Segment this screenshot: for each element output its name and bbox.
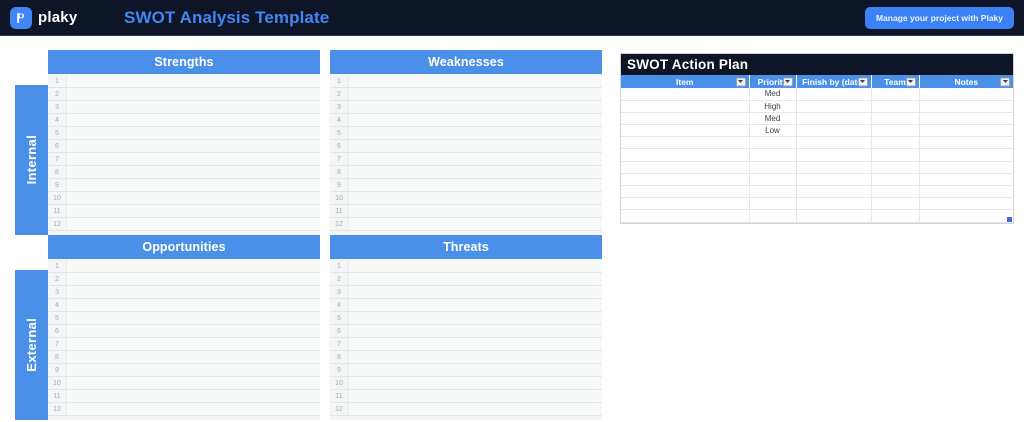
brand: plaky xyxy=(10,7,77,29)
row-input-cell[interactable] xyxy=(66,403,320,416)
cell-notes[interactable] xyxy=(919,161,1013,173)
row-input-cell[interactable] xyxy=(66,192,320,205)
row-number: 1 xyxy=(48,75,66,88)
row-number: 5 xyxy=(48,127,66,140)
row-number: 7 xyxy=(48,338,66,351)
row-input-cell[interactable] xyxy=(66,312,320,325)
row-input-cell[interactable] xyxy=(348,114,602,127)
cell-item[interactable] xyxy=(621,210,749,222)
cell-finish-by[interactable] xyxy=(796,137,871,149)
row-number: 9 xyxy=(48,179,66,192)
row-number: 5 xyxy=(330,127,348,140)
row-number: 4 xyxy=(330,299,348,312)
table-row[interactable] xyxy=(621,210,1013,222)
list-item[interactable]: 5 xyxy=(330,127,602,140)
cell-item[interactable] xyxy=(621,112,749,124)
panel-title-threats: Threats xyxy=(330,235,602,259)
side-band-internal: Internal xyxy=(15,85,48,235)
table-row[interactable] xyxy=(621,161,1013,173)
row-input-cell[interactable] xyxy=(66,166,320,179)
list-item[interactable]: 3 xyxy=(48,286,320,299)
row-input-cell[interactable] xyxy=(66,140,320,153)
cell-item[interactable] xyxy=(621,100,749,112)
cell-finish-by[interactable] xyxy=(796,173,871,185)
list-item[interactable]: 1 xyxy=(330,75,602,88)
row-number: 4 xyxy=(48,114,66,127)
column-header-label: Item xyxy=(676,77,693,87)
table-row[interactable] xyxy=(621,149,1013,161)
list-item[interactable]: 5 xyxy=(48,312,320,325)
row-number: 10 xyxy=(48,192,66,205)
row-input-cell[interactable] xyxy=(66,101,320,114)
list-item[interactable]: 2 xyxy=(330,273,602,286)
row-input-cell[interactable] xyxy=(348,101,602,114)
cell-finish-by[interactable] xyxy=(796,100,871,112)
list-item[interactable]: 3 xyxy=(48,101,320,114)
cell-notes[interactable] xyxy=(919,210,1013,222)
list-item[interactable]: 5 xyxy=(48,127,320,140)
row-number: 7 xyxy=(330,338,348,351)
panel-threats: Threats 123456789101112 xyxy=(330,235,602,420)
row-number: 5 xyxy=(330,312,348,325)
panel-weaknesses: Weaknesses 123456789101112 xyxy=(330,50,602,235)
list-item[interactable]: 2 xyxy=(330,88,602,101)
cell-notes[interactable] xyxy=(919,100,1013,112)
row-input-cell[interactable] xyxy=(348,325,602,338)
cell-priority[interactable] xyxy=(749,161,796,173)
row-number: 11 xyxy=(330,205,348,218)
list-item[interactable]: 4 xyxy=(48,299,320,312)
row-number: 6 xyxy=(48,140,66,153)
row-number: 8 xyxy=(330,166,348,179)
list-item[interactable]: 10 xyxy=(330,377,602,390)
action-plan-grid: ItemPriorityFinish by (date)TeamNotes Me… xyxy=(621,75,1013,223)
row-input-cell[interactable] xyxy=(66,205,320,218)
cell-finish-by[interactable] xyxy=(796,112,871,124)
cell-finish-by[interactable] xyxy=(796,88,871,100)
cell-team[interactable] xyxy=(871,186,919,198)
cell-item[interactable] xyxy=(621,186,749,198)
panel-strengths: Strengths 123456789101112 xyxy=(48,50,320,235)
list-item[interactable]: 1 xyxy=(48,75,320,88)
row-input-cell[interactable] xyxy=(66,364,320,377)
brand-name: plaky xyxy=(38,9,77,26)
cell-finish-by[interactable] xyxy=(796,210,871,222)
row-number: 2 xyxy=(48,273,66,286)
row-number: 4 xyxy=(330,114,348,127)
list-item[interactable]: 10 xyxy=(48,192,320,205)
swot-block-internal: Internal Strengths 123456789101112 xyxy=(15,50,320,235)
cell-team[interactable] xyxy=(871,173,919,185)
list-item[interactable]: 11 xyxy=(330,390,602,403)
row-number: 11 xyxy=(48,205,66,218)
row-number: 9 xyxy=(48,364,66,377)
column-header-label: Team xyxy=(884,77,906,87)
cell-notes[interactable] xyxy=(919,112,1013,124)
row-number: 8 xyxy=(330,351,348,364)
column-header-priority[interactable]: Priority xyxy=(749,75,796,88)
row-input-cell[interactable] xyxy=(348,351,602,364)
list-item[interactable]: 6 xyxy=(48,140,320,153)
filter-dropdown-icon[interactable] xyxy=(783,77,793,86)
row-input-cell[interactable] xyxy=(348,75,602,88)
filter-dropdown-icon[interactable] xyxy=(858,77,868,86)
cell-team[interactable] xyxy=(871,161,919,173)
row-input-cell[interactable] xyxy=(348,88,602,101)
row-number: 6 xyxy=(330,140,348,153)
table-row[interactable]: Low xyxy=(621,125,1013,137)
panel-opportunities: Opportunities 123456789101112 xyxy=(48,235,320,420)
cell-team[interactable] xyxy=(871,198,919,210)
row-number: 12 xyxy=(48,218,66,231)
swot-action-plan-table: SWOT Action Plan ItemPriorityFinish by (… xyxy=(620,53,1014,224)
list-item[interactable]: 2 xyxy=(48,273,320,286)
side-band-label: Internal xyxy=(24,135,39,184)
row-number: 5 xyxy=(48,312,66,325)
list-item[interactable]: 8 xyxy=(48,166,320,179)
row-number: 3 xyxy=(330,101,348,114)
row-input-cell[interactable] xyxy=(66,127,320,140)
row-input-cell[interactable] xyxy=(348,179,602,192)
row-input-cell[interactable] xyxy=(66,286,320,299)
column-header-finish-by-date[interactable]: Finish by (date) xyxy=(796,75,871,88)
rows-weaknesses: 123456789101112 xyxy=(330,74,602,231)
cell-finish-by[interactable] xyxy=(796,186,871,198)
row-number: 9 xyxy=(330,179,348,192)
row-input-cell[interactable] xyxy=(348,364,602,377)
cell-priority[interactable] xyxy=(749,186,796,198)
cell-team[interactable] xyxy=(871,88,919,100)
cell-notes[interactable] xyxy=(919,173,1013,185)
row-number: 3 xyxy=(48,101,66,114)
swot-block-external: External Opportunities 123456789101112 xyxy=(15,235,320,420)
cell-finish-by[interactable] xyxy=(796,198,871,210)
row-input-cell[interactable] xyxy=(66,273,320,286)
list-item[interactable]: 12 xyxy=(48,218,320,231)
row-input-cell[interactable] xyxy=(348,127,602,140)
list-item[interactable]: 8 xyxy=(48,351,320,364)
row-number: 11 xyxy=(48,390,66,403)
list-item[interactable]: 8 xyxy=(330,351,602,364)
table-row[interactable] xyxy=(621,173,1013,185)
cell-finish-by[interactable] xyxy=(796,161,871,173)
page-title: SWOT Analysis Template xyxy=(124,8,329,28)
row-input-cell[interactable] xyxy=(66,153,320,166)
row-input-cell[interactable] xyxy=(66,88,320,101)
rows-strengths: 123456789101112 xyxy=(48,74,320,231)
cell-priority[interactable] xyxy=(749,210,796,222)
cell-priority[interactable] xyxy=(749,173,796,185)
row-number: 12 xyxy=(48,403,66,416)
table-row[interactable]: Med xyxy=(621,112,1013,124)
cell-notes[interactable] xyxy=(919,149,1013,161)
row-input-cell[interactable] xyxy=(66,377,320,390)
list-item[interactable]: 1 xyxy=(48,260,320,273)
row-input-cell[interactable] xyxy=(348,192,602,205)
cell-priority[interactable]: Med xyxy=(749,112,796,124)
list-item[interactable]: 4 xyxy=(48,114,320,127)
cell-team[interactable] xyxy=(871,100,919,112)
panel-title-strengths: Strengths xyxy=(48,50,320,74)
cell-team[interactable] xyxy=(871,125,919,137)
list-item[interactable]: 8 xyxy=(330,166,602,179)
list-item[interactable]: 3 xyxy=(330,101,602,114)
column-header-label: Notes xyxy=(954,77,978,87)
cell-notes[interactable] xyxy=(919,88,1013,100)
list-item[interactable]: 3 xyxy=(330,286,602,299)
row-number: 12 xyxy=(330,403,348,416)
cell-team[interactable] xyxy=(871,210,919,222)
panel-title-opportunities: Opportunities xyxy=(48,235,320,259)
list-item[interactable]: 2 xyxy=(48,88,320,101)
row-number: 1 xyxy=(330,260,348,273)
list-item[interactable]: 6 xyxy=(330,325,602,338)
row-input-cell[interactable] xyxy=(348,286,602,299)
row-number: 6 xyxy=(330,325,348,338)
table-row[interactable] xyxy=(621,198,1013,210)
row-number: 10 xyxy=(330,192,348,205)
list-item[interactable]: 6 xyxy=(330,140,602,153)
row-input-cell[interactable] xyxy=(348,377,602,390)
list-item[interactable]: 9 xyxy=(48,364,320,377)
row-input-cell[interactable] xyxy=(348,205,602,218)
row-number: 2 xyxy=(48,88,66,101)
row-input-cell[interactable] xyxy=(66,338,320,351)
row-input-cell[interactable] xyxy=(66,179,320,192)
row-number: 4 xyxy=(48,299,66,312)
list-item[interactable]: 4 xyxy=(330,299,602,312)
list-item[interactable]: 11 xyxy=(330,205,602,218)
row-number: 8 xyxy=(48,166,66,179)
list-item[interactable]: 12 xyxy=(330,218,602,231)
cell-priority[interactable]: High xyxy=(749,100,796,112)
cell-team[interactable] xyxy=(871,112,919,124)
list-item[interactable]: 7 xyxy=(48,338,320,351)
row-number: 3 xyxy=(48,286,66,299)
rows-threats: 123456789101112 xyxy=(330,259,602,416)
column-header-item[interactable]: Item xyxy=(621,75,749,88)
workspace: Internal Strengths 123456789101112 Weakn… xyxy=(0,36,1024,422)
list-item[interactable]: 1 xyxy=(330,260,602,273)
cell-item[interactable] xyxy=(621,161,749,173)
row-input-cell[interactable] xyxy=(348,153,602,166)
list-item[interactable]: 12 xyxy=(48,403,320,416)
list-item[interactable]: 9 xyxy=(48,179,320,192)
row-input-cell[interactable] xyxy=(66,114,320,127)
cell-finish-by[interactable] xyxy=(796,149,871,161)
row-number: 10 xyxy=(330,377,348,390)
list-item[interactable]: 12 xyxy=(330,403,602,416)
swot-block-weaknesses: Weaknesses 123456789101112 xyxy=(330,50,602,235)
list-item[interactable]: 7 xyxy=(330,338,602,351)
cell-notes[interactable] xyxy=(919,198,1013,210)
cell-priority[interactable] xyxy=(749,198,796,210)
row-number: 9 xyxy=(330,364,348,377)
cell-item[interactable] xyxy=(621,198,749,210)
row-number: 1 xyxy=(330,75,348,88)
row-number: 6 xyxy=(48,325,66,338)
cell-finish-by[interactable] xyxy=(796,125,871,137)
row-input-cell[interactable] xyxy=(348,403,602,416)
table-row[interactable] xyxy=(621,186,1013,198)
rows-opportunities: 123456789101112 xyxy=(48,259,320,416)
cell-priority[interactable]: Low xyxy=(749,125,796,137)
row-number: 1 xyxy=(48,260,66,273)
plaky-logo-icon xyxy=(10,7,32,29)
cell-notes[interactable] xyxy=(919,125,1013,137)
cell-team[interactable] xyxy=(871,137,919,149)
resize-grip-icon[interactable] xyxy=(1007,217,1012,222)
list-item[interactable]: 11 xyxy=(48,390,320,403)
list-item[interactable]: 7 xyxy=(330,153,602,166)
swot-block-threats: Threats 123456789101112 xyxy=(330,235,602,420)
table-row[interactable]: Med xyxy=(621,88,1013,100)
row-input-cell[interactable] xyxy=(348,273,602,286)
panel-title-weaknesses: Weaknesses xyxy=(330,50,602,74)
row-input-cell[interactable] xyxy=(348,140,602,153)
row-number: 12 xyxy=(330,218,348,231)
action-plan-title: SWOT Action Plan xyxy=(621,54,1013,75)
side-band-label: External xyxy=(24,318,39,372)
row-input-cell[interactable] xyxy=(66,351,320,364)
cell-notes[interactable] xyxy=(919,186,1013,198)
row-input-cell[interactable] xyxy=(348,299,602,312)
list-item[interactable]: 7 xyxy=(48,153,320,166)
row-input-cell[interactable] xyxy=(66,260,320,273)
filter-dropdown-icon[interactable] xyxy=(906,77,916,86)
column-header-label: Finish by (date) xyxy=(802,77,865,87)
cell-priority[interactable] xyxy=(749,149,796,161)
cell-item[interactable] xyxy=(621,173,749,185)
list-item[interactable]: 10 xyxy=(330,192,602,205)
row-number: 2 xyxy=(330,88,348,101)
row-input-cell[interactable] xyxy=(66,390,320,403)
column-header-notes[interactable]: Notes xyxy=(919,75,1013,88)
row-number: 10 xyxy=(48,377,66,390)
row-input-cell[interactable] xyxy=(348,312,602,325)
row-input-cell[interactable] xyxy=(348,260,602,273)
list-item[interactable]: 10 xyxy=(48,377,320,390)
row-number: 3 xyxy=(330,286,348,299)
cell-item[interactable] xyxy=(621,88,749,100)
row-number: 7 xyxy=(330,153,348,166)
cell-priority[interactable] xyxy=(749,137,796,149)
list-item[interactable]: 6 xyxy=(48,325,320,338)
action-plan-header-row: ItemPriorityFinish by (date)TeamNotes xyxy=(621,75,1013,88)
row-number: 8 xyxy=(48,351,66,364)
row-input-cell[interactable] xyxy=(66,218,320,231)
column-header-team[interactable]: Team xyxy=(871,75,919,88)
filter-dropdown-icon[interactable] xyxy=(736,77,746,86)
row-input-cell[interactable] xyxy=(348,338,602,351)
manage-project-cta-button[interactable]: Manage your project with Plaky xyxy=(865,7,1014,29)
list-item[interactable]: 9 xyxy=(330,364,602,377)
table-row[interactable]: High xyxy=(621,100,1013,112)
app-header: plaky SWOT Analysis Template Manage your… xyxy=(0,0,1024,36)
cell-notes[interactable] xyxy=(919,137,1013,149)
cell-item[interactable] xyxy=(621,137,749,149)
filter-dropdown-icon[interactable] xyxy=(1000,77,1010,86)
cell-priority[interactable]: Med xyxy=(749,88,796,100)
row-input-cell[interactable] xyxy=(66,75,320,88)
side-band-external: External xyxy=(15,270,48,420)
list-item[interactable]: 9 xyxy=(330,179,602,192)
row-input-cell[interactable] xyxy=(66,325,320,338)
row-number: 2 xyxy=(330,273,348,286)
row-input-cell[interactable] xyxy=(348,166,602,179)
list-item[interactable]: 11 xyxy=(48,205,320,218)
cell-team[interactable] xyxy=(871,149,919,161)
row-number: 7 xyxy=(48,153,66,166)
row-input-cell[interactable] xyxy=(66,299,320,312)
cell-item[interactable] xyxy=(621,149,749,161)
table-row[interactable] xyxy=(621,137,1013,149)
action-plan-body: MedHighMedLow xyxy=(621,88,1013,222)
row-input-cell[interactable] xyxy=(348,218,602,231)
list-item[interactable]: 5 xyxy=(330,312,602,325)
list-item[interactable]: 4 xyxy=(330,114,602,127)
cell-item[interactable] xyxy=(621,125,749,137)
row-input-cell[interactable] xyxy=(348,390,602,403)
row-number: 11 xyxy=(330,390,348,403)
